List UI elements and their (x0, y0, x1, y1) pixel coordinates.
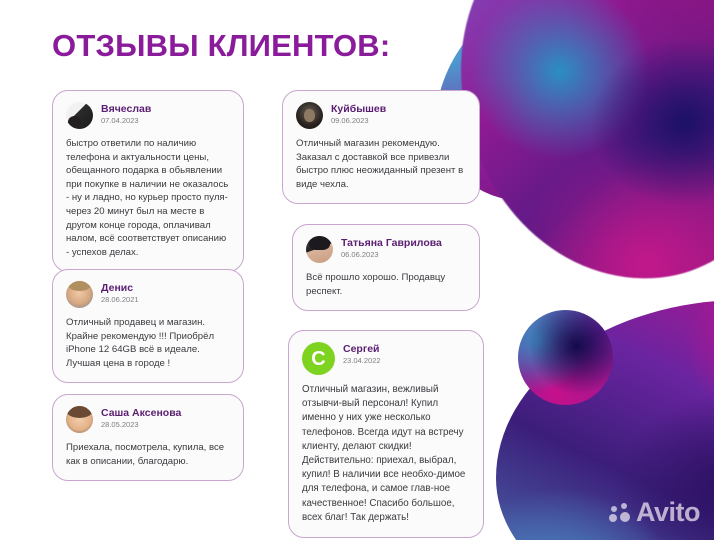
page-title: ОТЗЫВЫ КЛИЕНТОВ: (52, 28, 390, 64)
review-text: Всё прошло хорошо. Продавцу респект. (306, 271, 466, 298)
review-meta: Вячеслав 07.04.2023 (101, 102, 151, 126)
review-date: 23.04.2022 (343, 356, 381, 366)
review-author: Татьяна Гаврилова (341, 237, 442, 249)
review-text: Отличный магазин, вежливый отзывчи-вый п… (302, 383, 470, 525)
review-text: Отличный магазин рекомендую. Заказал с д… (296, 137, 466, 191)
avito-dots-icon (609, 503, 631, 523)
review-author: Денис (101, 282, 139, 294)
review-card: Куйбышев 09.06.2023 Отличный магазин рек… (282, 90, 480, 204)
avito-wordmark: Avito (636, 499, 700, 526)
review-card: С Сергей 23.04.2022 Отличный магазин, ве… (288, 330, 484, 538)
avito-watermark: Avito (609, 499, 700, 526)
review-header: Вячеслав 07.04.2023 (66, 102, 230, 129)
review-text: Отличный продавец и магазин. Крайне реко… (66, 316, 230, 370)
review-header: С Сергей 23.04.2022 (302, 342, 470, 375)
reviews-poster: ОТЗЫВЫ КЛИЕНТОВ: Вячеслав 07.04.2023 быс… (0, 0, 714, 540)
review-card: Денис 28.06.2021 Отличный продавец и маг… (52, 269, 244, 383)
review-header: Татьяна Гаврилова 06.06.2023 (306, 236, 466, 263)
review-header: Саша Аксенова 28.05.2023 (66, 406, 230, 433)
gradient-blob-top-right (442, 0, 714, 296)
avatar (296, 102, 323, 129)
review-meta: Куйбышев 09.06.2023 (331, 102, 386, 126)
review-date: 09.06.2023 (331, 116, 386, 126)
avatar (66, 281, 93, 308)
review-date: 07.04.2023 (101, 116, 151, 126)
avatar (306, 236, 333, 263)
review-meta: Сергей 23.04.2022 (343, 342, 381, 366)
review-card: Татьяна Гаврилова 06.06.2023 Всё прошло … (292, 224, 480, 311)
avatar: С (302, 342, 335, 375)
review-author: Вячеслав (101, 103, 151, 115)
review-date: 06.06.2023 (341, 250, 442, 260)
review-date: 28.06.2021 (101, 295, 139, 305)
review-text: быстро ответили по наличию телефона и ак… (66, 137, 230, 259)
gradient-circle-accent (518, 310, 613, 405)
review-header: Куйбышев 09.06.2023 (296, 102, 466, 129)
review-date: 28.05.2023 (101, 420, 181, 430)
avatar (66, 102, 93, 129)
review-author: Куйбышев (331, 103, 386, 115)
avatar (66, 406, 93, 433)
review-author: Сергей (343, 343, 381, 355)
review-meta: Татьяна Гаврилова 06.06.2023 (341, 236, 442, 260)
review-text: Приехала, посмотрела, купила, все как в … (66, 441, 230, 468)
review-card: Саша Аксенова 28.05.2023 Приехала, посмо… (52, 394, 244, 481)
review-meta: Денис 28.06.2021 (101, 281, 139, 305)
review-author: Саша Аксенова (101, 407, 181, 419)
review-meta: Саша Аксенова 28.05.2023 (101, 406, 181, 430)
review-header: Денис 28.06.2021 (66, 281, 230, 308)
review-card: Вячеслав 07.04.2023 быстро ответили по н… (52, 90, 244, 272)
